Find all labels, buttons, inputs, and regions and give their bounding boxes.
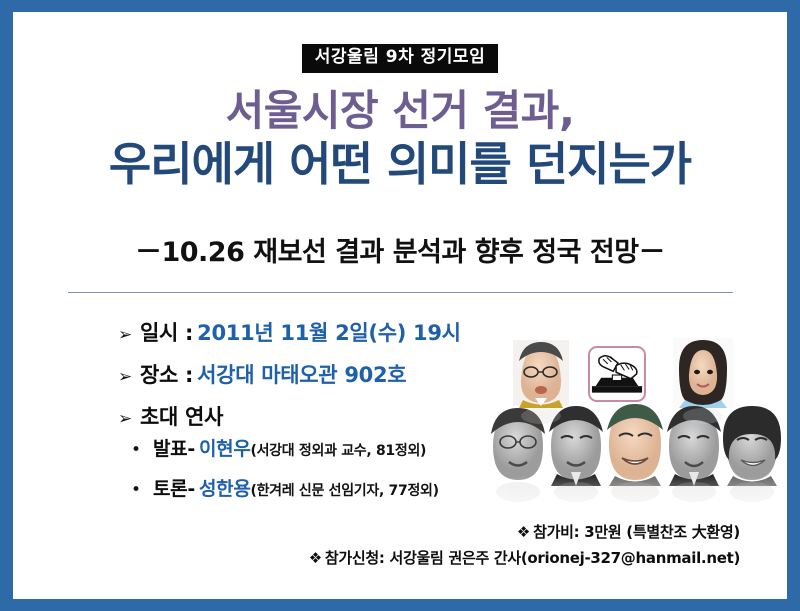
speaker-row-presenter: • 발표- 이현우 (서강대 정외과 교수, 81정외): [131, 434, 531, 461]
speaker-role-discussant: 토론-: [153, 474, 195, 501]
footer-registration-line: ❖참가신청: 서강울림 권은주 간사(orionej-327@hanmail.n…: [309, 546, 740, 572]
speaker-row-discussant: • 토론- 성한용 (한겨레 신문 선임기자, 77정외): [131, 474, 531, 501]
detail-value-datetime: 2011년 11월 2일(수) 19시: [197, 317, 461, 347]
speaker-list: • 발표- 이현우 (서강대 정외과 교수, 81정외) • 토론- 성한용 (…: [131, 434, 531, 514]
poster-frame-top: [0, 0, 800, 12]
poster-content-area: 서강울림 9차 정기모임 서울시장 선거 결과, 우리에게 어떤 의미를 던지는…: [13, 12, 787, 599]
detail-label-venue: 장소 :: [140, 359, 193, 389]
title-line-2: 우리에게 어떤 의미를 던지는가: [13, 136, 787, 194]
horizontal-divider: [68, 292, 733, 293]
speaker-name-presenter: 이현우: [199, 434, 251, 461]
speaker-role-presenter: 발표-: [153, 434, 195, 461]
arrow-bullet-icon: ➢: [118, 369, 140, 386]
detail-label-speakers: 초대 연사: [140, 401, 223, 431]
footer-fee-line: ❖참가비: 3만원 (특별찬조 大환영): [309, 520, 740, 546]
ballot-box-icon: [588, 346, 646, 402]
footer-registration-text: 참가신청: 서강울림 권은주 간사(orionej-327@hanmail.ne…: [325, 549, 740, 567]
detail-row-speakers-heading: ➢ 초대 연사: [118, 401, 498, 431]
detail-row-datetime: ➢ 일시 : 2011년 11월 2일(수) 19시: [118, 317, 498, 347]
speaker-affiliation-discussant: (한겨레 신문 선임기자, 77정외): [251, 480, 439, 500]
dot-bullet-icon: •: [131, 482, 153, 499]
event-details-list: ➢ 일시 : 2011년 11월 2일(수) 19시 ➢ 장소 : 서강대 마태…: [118, 317, 498, 443]
poster-frame-bottom: [0, 599, 800, 611]
collage-face-6: [607, 404, 663, 486]
arrow-bullet-icon: ➢: [118, 411, 140, 428]
speaker-affiliation-presenter: (서강대 정외과 교수, 81정외): [251, 440, 427, 460]
collage-face-8: [723, 406, 781, 486]
detail-label-datetime: 일시 :: [140, 317, 193, 347]
badge-row: 서강울림 9차 정기모임: [13, 44, 787, 73]
title-line-1: 서울시장 선거 결과,: [13, 84, 787, 138]
footer-notes: ❖참가비: 3만원 (특별찬조 大환영) ❖참가신청: 서강울림 권은주 간사(…: [309, 520, 740, 571]
page-title: 서울시장 선거 결과, 우리에게 어떤 의미를 던지는가: [13, 84, 787, 194]
subtitle: －10.26 재보선 결과 분석과 향후 정국 전망－: [13, 230, 787, 269]
dot-bullet-icon: •: [131, 442, 153, 459]
detail-row-venue: ➢ 장소 : 서강대 마태오관 902호: [118, 359, 498, 389]
diamond-bullet-icon: ❖: [309, 549, 322, 567]
collage-face-1: [513, 340, 569, 408]
footer-fee-text: 참가비: 3만원 (특별찬조 大환영): [533, 523, 740, 541]
detail-value-venue: 서강대 마태오관 902호: [197, 359, 406, 389]
speaker-name-discussant: 성한용: [199, 474, 251, 501]
arrow-bullet-icon: ➢: [118, 327, 140, 344]
poster-frame-right: [787, 0, 800, 611]
diamond-bullet-icon: ❖: [517, 523, 530, 541]
politician-collage: [485, 334, 785, 524]
event-series-badge: 서강울림 9차 정기모임: [302, 44, 498, 73]
poster-frame-left: [0, 0, 13, 611]
event-poster: 서강울림 9차 정기모임 서울시장 선거 결과, 우리에게 어떤 의미를 던지는…: [0, 0, 800, 611]
collage-face-3: [673, 338, 733, 408]
